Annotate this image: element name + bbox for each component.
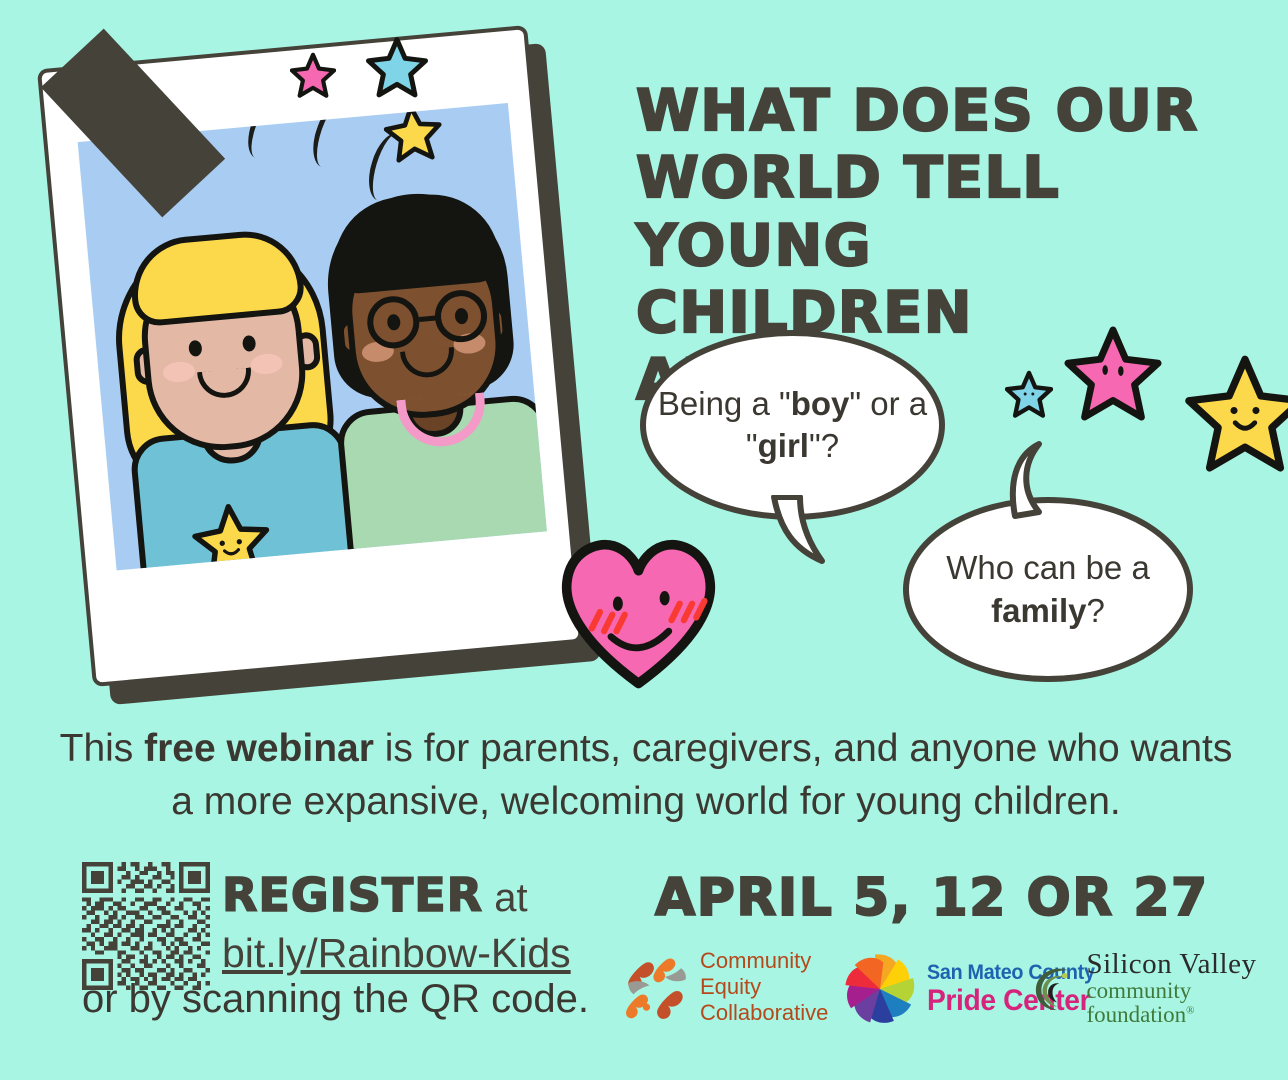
- headline-line-1: What does our: [636, 78, 1266, 145]
- sparkle-streak-icon: [240, 103, 298, 165]
- speech-bubble-tail: [770, 495, 832, 565]
- smiling-heart-icon: [556, 534, 721, 694]
- star-icon: [382, 103, 445, 164]
- cec-line-2: Equity: [700, 974, 828, 1000]
- svcf-swoosh-icon: [1027, 958, 1082, 1020]
- register-link[interactable]: bit.ly/Rainbow-Kids: [222, 927, 571, 979]
- scan-instruction: or by scanning the QR code.: [82, 977, 589, 1022]
- register-at: at: [483, 876, 527, 920]
- cec-line-1: Community: [700, 948, 828, 974]
- star-icon-pink: [1064, 324, 1162, 422]
- speech-bubble-family: Who can be a family?: [903, 497, 1193, 682]
- shirt-star-icon: [189, 499, 274, 571]
- speech-bubble-boy-girl-text: Being a "boy" or a "girl"?: [646, 383, 939, 467]
- headline-line-2: world tell young: [636, 145, 1266, 280]
- community-equity-collaborative-mark-icon: [622, 951, 694, 1023]
- logo-community-equity-collaborative: Community Equity Collaborative: [622, 948, 828, 1026]
- sparkle-streak-icon: [306, 103, 361, 173]
- community-equity-collaborative-text: Community Equity Collaborative: [700, 948, 828, 1026]
- svcf-line-1: Silicon Valley: [1086, 950, 1282, 979]
- child-a-bangs: [127, 227, 306, 328]
- qr-code[interactable]: [82, 862, 210, 990]
- register-block: Register at bit.ly/Rainbow-Kids: [222, 866, 571, 979]
- child-b-hair-top: [328, 189, 502, 296]
- svcf-line-2: community foundation®: [1086, 979, 1282, 1027]
- star-icon-yellow: [1184, 352, 1288, 474]
- speech-bubble-boy-girl: Being a "boy" or a "girl"?: [640, 330, 945, 520]
- star-icon-blue: [366, 36, 428, 98]
- body-copy: This free webinar is for parents, caregi…: [46, 722, 1246, 829]
- silicon-valley-text: Silicon Valley community foundation®: [1086, 950, 1282, 1027]
- register-label: Register: [222, 868, 483, 922]
- star-icon-pink-small: [290, 52, 336, 98]
- pride-pinwheel-icon: [837, 946, 923, 1032]
- poster-canvas: What does our world tell young children …: [0, 0, 1288, 1080]
- polaroid-photo: [58, 42, 568, 687]
- speech-bubble-family-text: Who can be a family?: [909, 547, 1187, 631]
- cec-line-3: Collaborative: [700, 1000, 828, 1026]
- event-date: April 5, 12 or 27: [655, 868, 1209, 928]
- speech-bubble-tail: [995, 440, 1075, 520]
- logo-row: Community Equity Collaborative: [622, 940, 1282, 1040]
- star-icon-blue-small: [1005, 370, 1053, 418]
- logo-silicon-valley-community-foundation: Silicon Valley community foundation®: [1027, 950, 1282, 1027]
